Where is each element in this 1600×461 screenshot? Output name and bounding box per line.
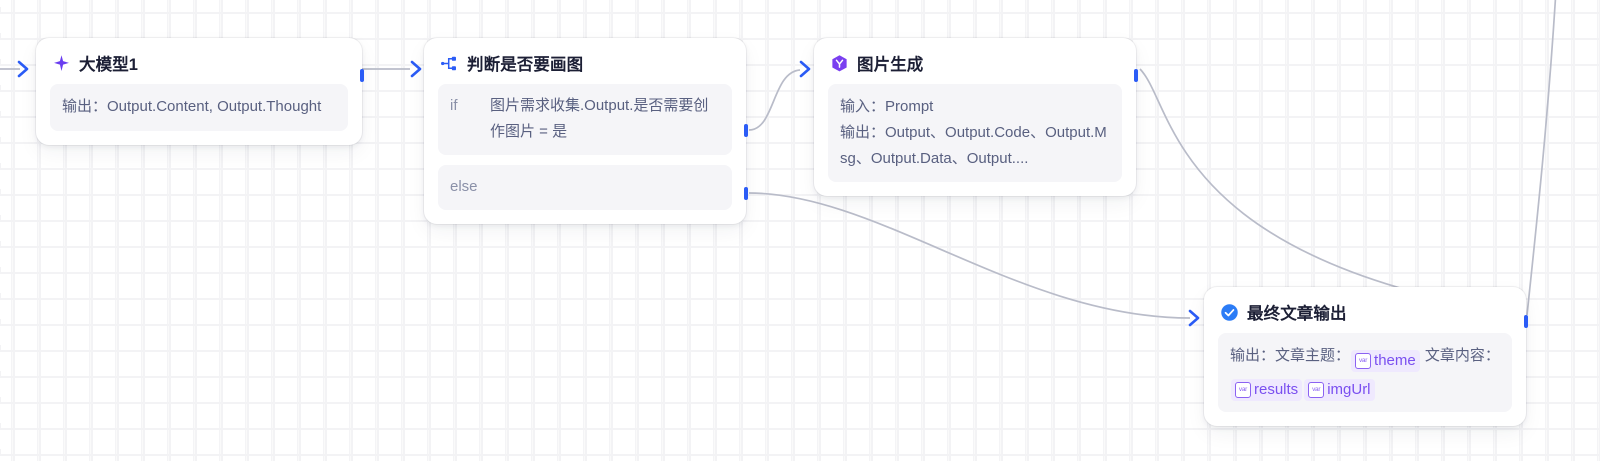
- node-condition[interactable]: 判断是否要画图 if 图片需求收集.Output.是否需要创作图片 = 是 el…: [424, 38, 746, 224]
- condition-keyword-else: else: [438, 165, 490, 211]
- edge-else-to-final: [749, 193, 1190, 318]
- node-llm[interactable]: 大模型1 输出：Output.Content, Output.Thought: [36, 38, 362, 145]
- node-image-generation-title: 图片生成: [857, 51, 923, 75]
- condition-expression-if: 图片需求收集.Output.是否需要创作图片 = 是: [490, 84, 732, 155]
- arrowhead-condition: [412, 62, 420, 76]
- variable-chip-label: results: [1254, 379, 1298, 402]
- node-final-output-port[interactable]: [1524, 315, 1528, 328]
- arrowhead-imagegen: [801, 62, 809, 76]
- sparkle-icon: [52, 54, 71, 73]
- edge-imagegen-to-right: [1140, 69, 1525, 315]
- condition-keyword-if: if: [438, 84, 490, 155]
- variable-chip-label: imgUrl: [1327, 379, 1370, 402]
- condition-row-if[interactable]: if 图片需求收集.Output.是否需要创作图片 = 是: [438, 84, 732, 155]
- edge-final-outgoing: [1527, 0, 1556, 315]
- condition-else-output-port[interactable]: [744, 187, 748, 200]
- node-final-output-title: 最终文章输出: [1247, 300, 1347, 324]
- arrowhead-final: [1190, 311, 1198, 325]
- var-icon: var: [1235, 382, 1251, 398]
- var-icon: var: [1355, 353, 1371, 369]
- node-image-generation-output-port[interactable]: [1134, 69, 1138, 82]
- final-output-text: 文章主题：: [1275, 347, 1350, 364]
- node-final-output-header: 最终文章输出: [1204, 287, 1526, 333]
- condition-expression-else: [490, 178, 502, 197]
- node-llm-output-port[interactable]: [360, 69, 364, 82]
- branch-icon: [440, 54, 459, 73]
- edge-if-to-imagegen: [749, 70, 800, 130]
- check-circle-icon: [1220, 303, 1239, 322]
- node-final-output[interactable]: 最终文章输出 输出：文章主题：vartheme 文章内容：varresultsv…: [1204, 287, 1526, 426]
- variable-chip-results[interactable]: varresults: [1231, 379, 1302, 402]
- node-image-generation-header: 图片生成: [814, 38, 1136, 84]
- variable-chip-imgUrl[interactable]: varimgUrl: [1304, 379, 1374, 402]
- variable-chip-theme[interactable]: vartheme: [1351, 350, 1420, 373]
- node-llm-body: 输出：Output.Content, Output.Thought: [50, 84, 348, 131]
- condition-rows: if 图片需求收集.Output.是否需要创作图片 = 是 else: [438, 84, 732, 210]
- var-icon: var: [1308, 382, 1324, 398]
- node-condition-header: 判断是否要画图: [424, 38, 746, 84]
- arrowhead-incoming: [19, 62, 27, 76]
- node-llm-title: 大模型1: [79, 51, 138, 75]
- final-output-text: 文章内容：: [1421, 347, 1500, 364]
- node-final-output-body: 输出：文章主题：vartheme 文章内容：varresultsvarimgUr…: [1218, 333, 1512, 412]
- condition-if-output-port[interactable]: [744, 124, 748, 137]
- final-output-prefix: 输出：: [1230, 347, 1275, 364]
- node-llm-header: 大模型1: [36, 38, 362, 84]
- node-image-generation-body: 输入：Prompt 输出：Output、Output.Code、Output.M…: [828, 84, 1122, 182]
- node-image-generation[interactable]: 图片生成 输入：Prompt 输出：Output、Output.Code、Out…: [814, 38, 1136, 196]
- image-generation-input-line: 输入：Prompt: [840, 94, 1110, 120]
- workflow-canvas[interactable]: .ln { fill:none; stroke:#b9bcc9; stroke-…: [0, 0, 1600, 461]
- node-condition-title: 判断是否要画图: [467, 51, 583, 75]
- condition-row-else[interactable]: else: [438, 165, 732, 211]
- plugin-hexagon-icon: [830, 54, 849, 73]
- image-generation-output-line: 输出：Output、Output.Code、Output.Msg、Output.…: [840, 120, 1110, 172]
- variable-chip-label: theme: [1374, 350, 1416, 373]
